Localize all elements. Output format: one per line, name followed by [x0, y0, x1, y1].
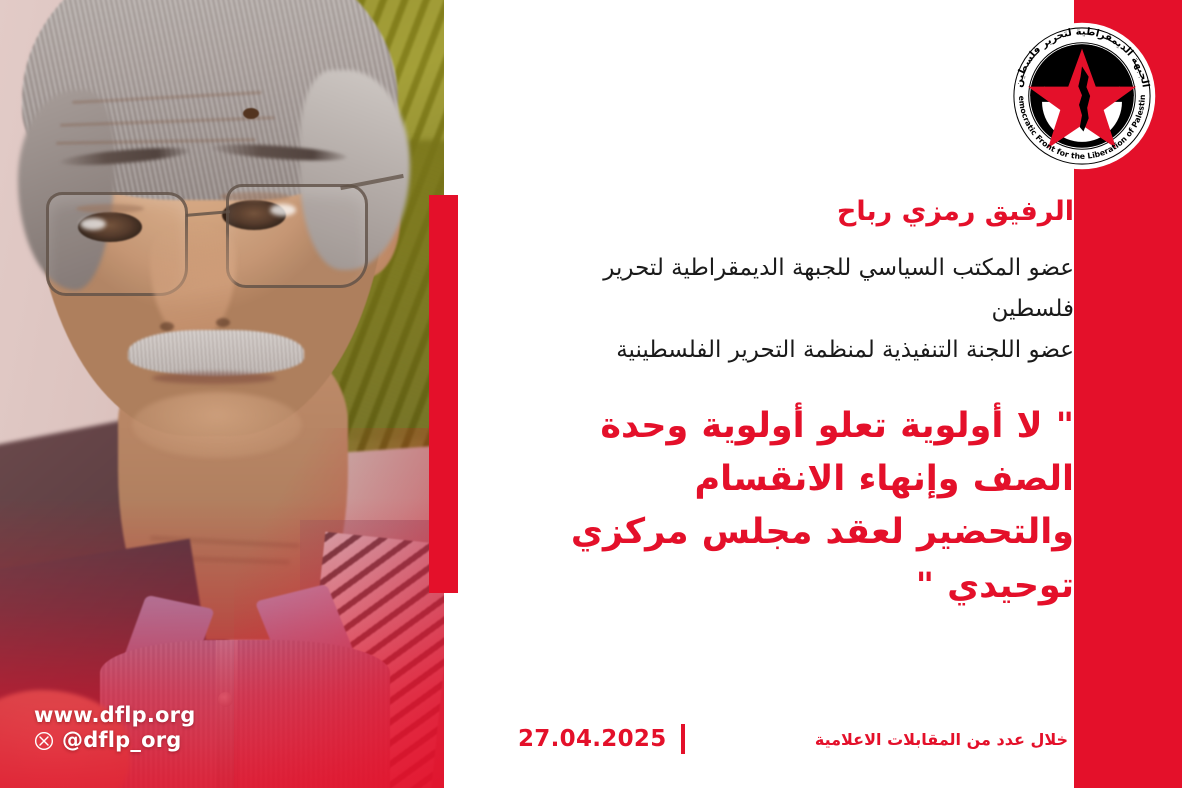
site-credit-block: www.dflp.org @dflp_org	[22, 703, 195, 754]
poster-canvas: www.dflp.org @dflp_org	[0, 0, 1182, 788]
speaker-name: الرفيق رمزي رباح	[528, 196, 1074, 228]
portrait-nostril	[160, 322, 174, 331]
source-note: خلال عدد من المقابلات الاعلامية	[815, 730, 1068, 749]
speaker-role-line: عضو اللجنة التنفيذية لمنظمة التحرير الفل…	[528, 330, 1074, 371]
publication-date: 27.04.2025	[518, 726, 667, 752]
content-column: الرفيق رمزي رباح عضو المكتب السياسي للجب…	[458, 0, 1074, 788]
speaker-role-line: عضو المكتب السياسي للجبهة الديمقراطية لت…	[528, 248, 1074, 330]
portrait-moustache	[128, 330, 304, 376]
x-twitter-icon	[34, 731, 54, 751]
photo-red-gradient-overlay-right	[234, 428, 444, 788]
portrait-mouth	[152, 372, 276, 384]
social-handle-row[interactable]: @dflp_org	[22, 728, 195, 754]
social-handle-text: @dflp_org	[62, 728, 182, 754]
date-tick-mark	[681, 724, 685, 754]
portrait-nostril	[216, 318, 230, 327]
speaker-photo: www.dflp.org @dflp_org	[0, 0, 444, 788]
website-url[interactable]: www.dflp.org	[22, 703, 195, 729]
glasses-lens-right	[226, 184, 368, 288]
glasses-bridge	[186, 210, 230, 217]
footer-row: خلال عدد من المقابلات الاعلامية 27.04.20…	[474, 724, 1074, 754]
speaker-roles: عضو المكتب السياسي للجبهة الديمقراطية لت…	[528, 248, 1074, 371]
portrait-mole	[243, 108, 259, 119]
date-group: 27.04.2025	[518, 724, 685, 754]
glasses-glint	[270, 204, 296, 216]
red-accent-bar	[429, 195, 458, 593]
glasses-glint	[80, 218, 106, 230]
pull-quote: " لا أولوية تعلو أولوية وحدة الصف وإنهاء…	[528, 400, 1074, 613]
